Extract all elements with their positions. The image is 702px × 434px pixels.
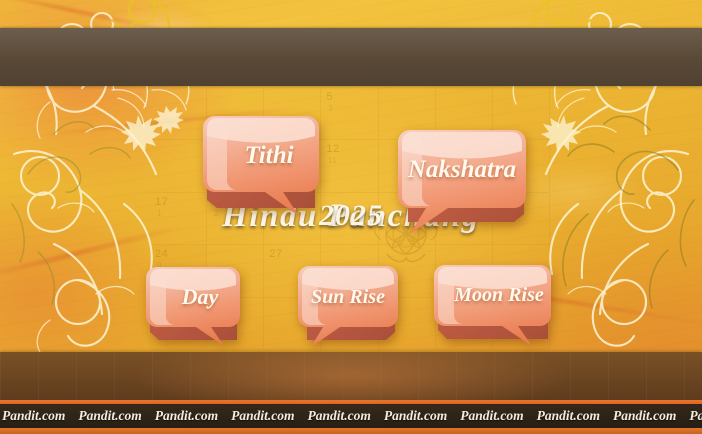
- bubble-sun-rise[interactable]: Sun Rise: [291, 264, 405, 346]
- calendar-day-number: 27: [269, 248, 282, 260]
- watermark-text: Pandit.com: [460, 408, 523, 424]
- watermark-text: Pandit.com: [231, 408, 294, 424]
- calendar-day-number: 5: [326, 91, 333, 103]
- watermark-text: Pandit.com: [155, 408, 218, 424]
- bubble-day[interactable]: Day: [147, 264, 253, 346]
- watermark-text: Pandit.com: [384, 408, 447, 424]
- header-band-sheen: [0, 28, 702, 86]
- bubble-moon-rise[interactable]: Moon Rise: [434, 262, 564, 346]
- watermark-text: Pandit.com: [308, 408, 371, 424]
- panchang-poster: 53121117118219324927311: [0, 0, 702, 434]
- header-band: [0, 28, 702, 86]
- watermark-text: Pandit.com: [537, 408, 600, 424]
- footer-band-sheen: [0, 352, 702, 400]
- watermark-text: Pandit.com: [613, 408, 676, 424]
- calendar-cell: [150, 88, 207, 140]
- watermark-text: Pandit.com: [78, 408, 141, 424]
- watermark-strip: Pandit.comPandit.comPandit.comPandit.com…: [0, 404, 702, 428]
- watermark-strip-bottom-edge: [0, 428, 702, 434]
- year-label: 2025: [0, 199, 702, 233]
- footer-band: [0, 352, 702, 400]
- watermark-text: Pandit.com: [2, 408, 65, 424]
- calendar-cell: [150, 140, 207, 192]
- calendar-day-number: 24: [155, 248, 168, 260]
- watermark-row: Pandit.comPandit.comPandit.comPandit.com…: [0, 408, 702, 424]
- watermark-text: Pandit.com: [689, 408, 702, 424]
